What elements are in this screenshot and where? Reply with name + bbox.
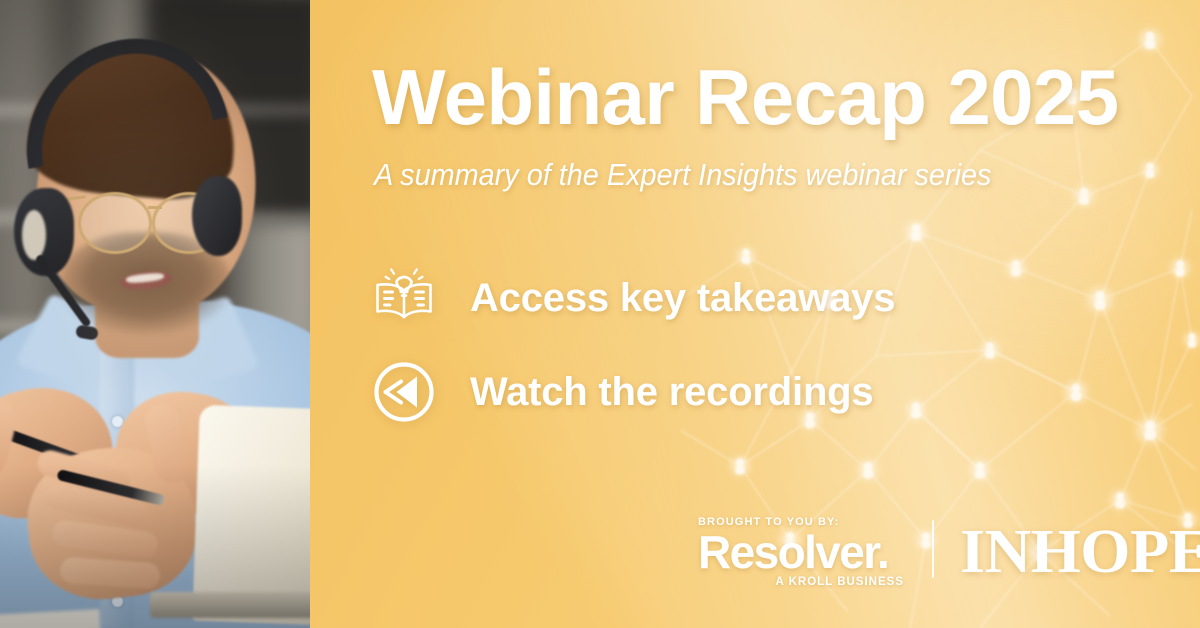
open-book-lightbulb-icon xyxy=(368,262,440,334)
rewind-play-circle-icon xyxy=(368,356,440,428)
feature-list: Access key takeaways Watch the recording… xyxy=(368,262,895,428)
page-subtitle: A summary of the Expert Insights webinar… xyxy=(374,157,991,193)
feature-item-recordings: Watch the recordings xyxy=(368,356,895,428)
inhope-brand: INHOPE xyxy=(960,516,1200,588)
resolver-logo-wordmark: Resolver. xyxy=(698,529,888,575)
content-panel: Webinar Recap 2025 A summary of the Expe… xyxy=(310,0,1200,628)
headset-earcup-right xyxy=(192,176,242,256)
inhope-logo-wordmark: INHOPE xyxy=(960,521,1200,583)
laptop-base xyxy=(150,592,310,618)
kroll-business-tagline: A KROLL BUSINESS xyxy=(776,576,904,588)
webinar-recap-banner: Webinar Recap 2025 A summary of the Expe… xyxy=(0,0,1200,628)
brand-lockup: BROUGHT TO YOU BY: Resolver. A KROLL BUS… xyxy=(698,516,1200,588)
page-title: Webinar Recap 2025 xyxy=(372,52,1118,143)
headset-earpad xyxy=(22,210,46,260)
feature-label: Watch the recordings xyxy=(470,370,873,415)
brand-divider xyxy=(932,520,934,578)
feature-label: Access key takeaways xyxy=(470,276,895,321)
feature-item-takeaways: Access key takeaways xyxy=(368,262,895,334)
speaker-photo xyxy=(0,0,310,628)
resolver-brand: BROUGHT TO YOU BY: Resolver. A KROLL BUS… xyxy=(698,516,906,588)
